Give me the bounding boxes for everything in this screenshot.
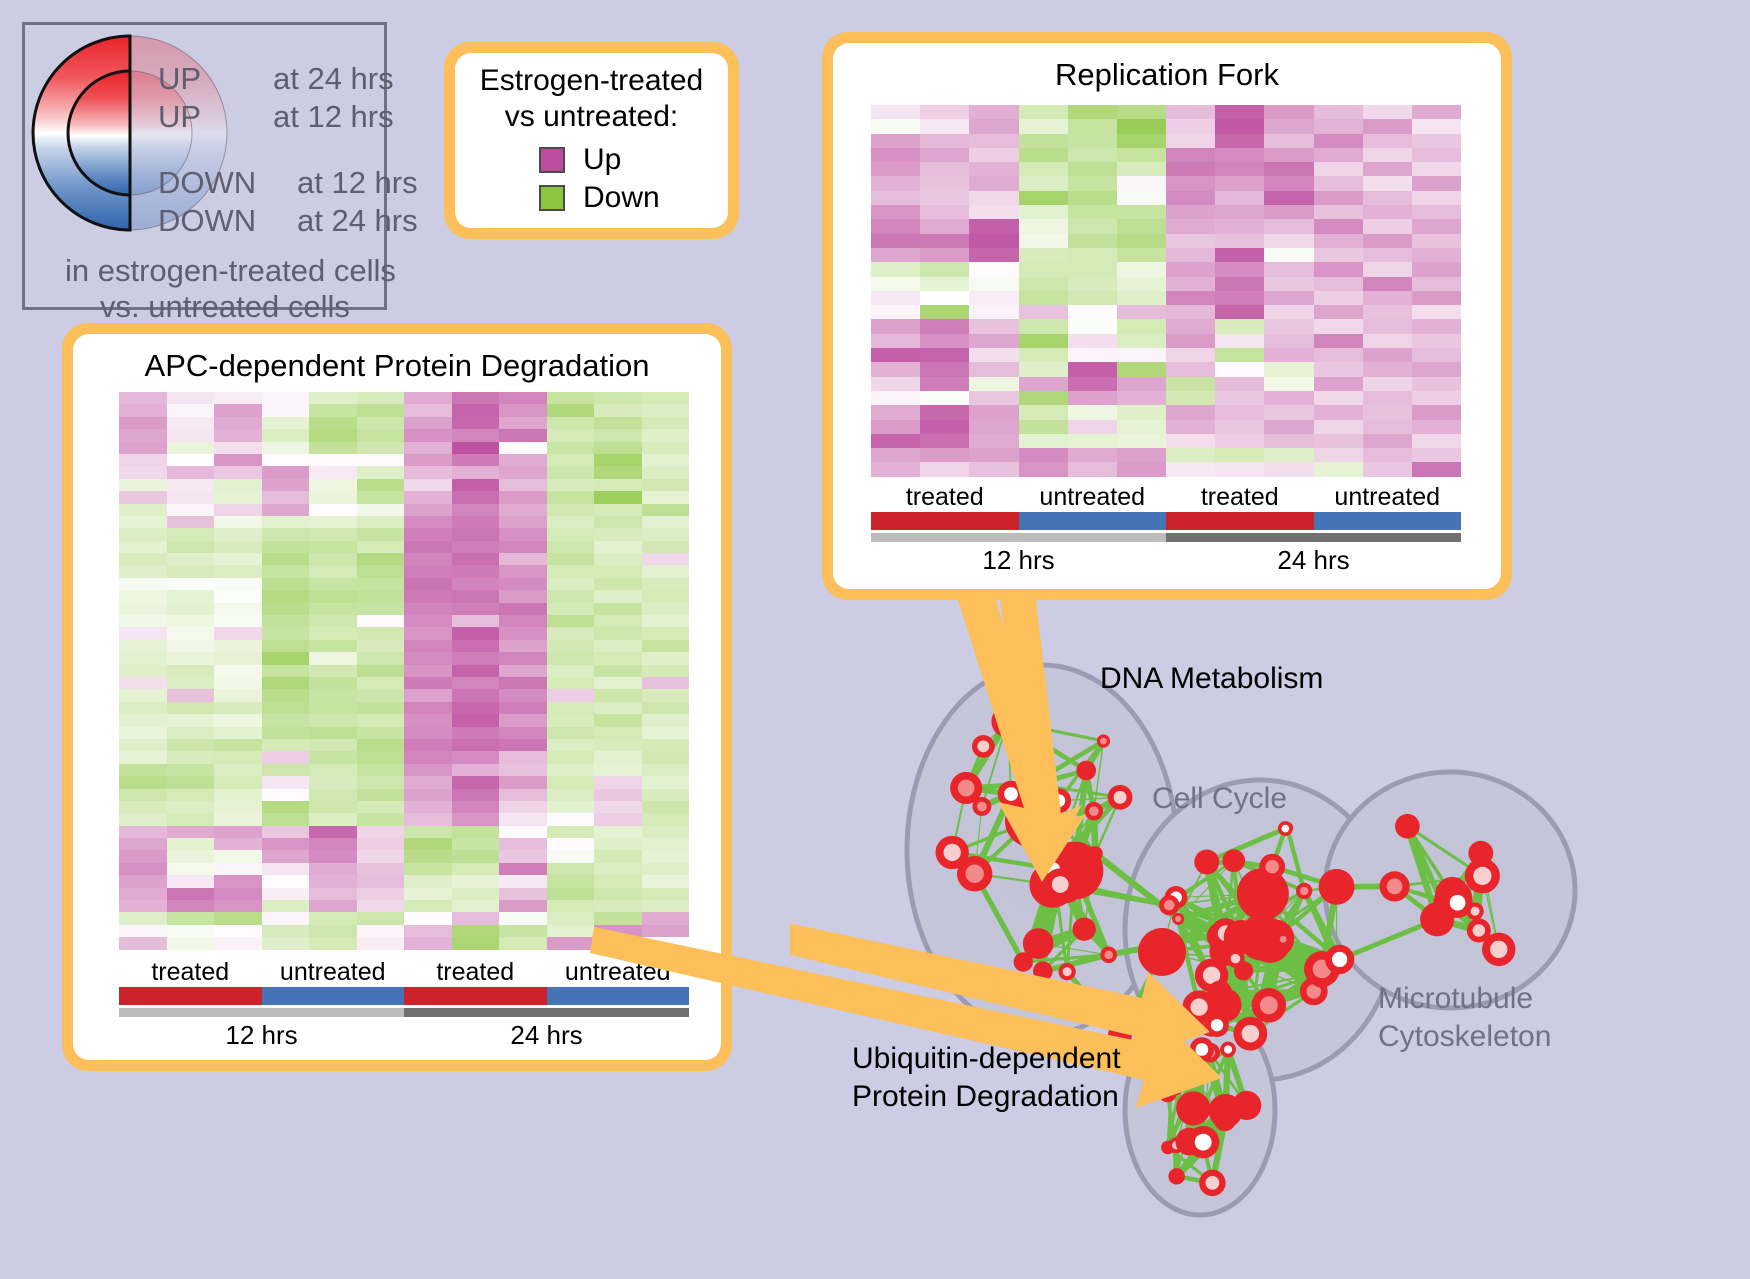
- heatmap-cell: [452, 888, 500, 900]
- heatmap-cell: [309, 900, 357, 912]
- heatmap-cell: [167, 702, 215, 714]
- heatmap-cell: [262, 553, 310, 565]
- network-node: [1097, 734, 1110, 747]
- heatmap-cell: [642, 813, 690, 825]
- heatmap-cell: [404, 727, 452, 739]
- heatmap-cell: [499, 417, 547, 429]
- heatmap-cell: [357, 603, 405, 615]
- heatmap-cell: [1166, 262, 1215, 276]
- heatmap-cell: [499, 466, 547, 478]
- heatmap-cell: [262, 900, 310, 912]
- heatmap-cell: [452, 652, 500, 664]
- heatmap-cell: [404, 491, 452, 503]
- legend-swatch-label: Down: [583, 183, 660, 213]
- heatmap-cell: [969, 291, 1018, 305]
- heatmap-cell: [920, 420, 969, 434]
- heatmap-cell: [357, 801, 405, 813]
- heatmap-cell: [309, 652, 357, 664]
- heatmap-cell: [167, 677, 215, 689]
- heatmap-cell: [167, 888, 215, 900]
- heatmap-cell: [404, 888, 452, 900]
- network-node: [1234, 961, 1253, 980]
- heatmap-cell: [214, 888, 262, 900]
- heatmap-cell: [642, 665, 690, 677]
- heatmap-cell: [547, 466, 595, 478]
- heatmap-cell: [920, 119, 969, 133]
- heatmap-cell: [309, 553, 357, 565]
- heatmap-cell: [969, 234, 1018, 248]
- heatmap-cell: [167, 813, 215, 825]
- heatmap-cell: [214, 764, 262, 776]
- heatmap-cell: [404, 714, 452, 726]
- heatmap-cell: [594, 850, 642, 862]
- heatmap-cell: [499, 850, 547, 862]
- heatmap-cell: [404, 479, 452, 491]
- heatmap-cell: [167, 727, 215, 739]
- heatmap-cell: [1264, 362, 1313, 376]
- heatmap-cell: [167, 739, 215, 751]
- heatmap-cell: [214, 491, 262, 503]
- heatmap-cell: [969, 176, 1018, 190]
- heatmap-cell: [1215, 405, 1264, 419]
- heatmap-cell: [262, 764, 310, 776]
- heatmap-cell: [404, 739, 452, 751]
- heatmap-cell: [1363, 248, 1412, 262]
- heatmap-cell: [871, 119, 920, 133]
- heatmap-cell: [642, 875, 690, 887]
- cluster-label-ubiquitin: Ubiquitin-dependent Protein Degradation: [852, 1040, 1121, 1116]
- heatmap-cell: [167, 553, 215, 565]
- treatment-bar-untreated: [547, 987, 690, 1005]
- heatmap-cell: [404, 429, 452, 441]
- heatmap-cell: [452, 454, 500, 466]
- heatmap-cell: [871, 305, 920, 319]
- heatmap-cell: [119, 429, 167, 441]
- heatmap-cell: [357, 429, 405, 441]
- heatmap-cell: [357, 789, 405, 801]
- heatmap-cell: [1412, 234, 1461, 248]
- heatmap-cell: [214, 615, 262, 627]
- heatmap-cell: [594, 392, 642, 404]
- heatmap-cell: [119, 392, 167, 404]
- heatmap-cell: [920, 319, 969, 333]
- heatmap-cell: [357, 912, 405, 924]
- heatmap-cell: [642, 888, 690, 900]
- heatmap-cell: [499, 627, 547, 639]
- network-node: [1194, 850, 1219, 875]
- heatmap-cell: [262, 442, 310, 454]
- heatmap-cell: [499, 801, 547, 813]
- heatmap-cell: [547, 789, 595, 801]
- heatmap-cell: [1068, 148, 1117, 162]
- heatmap-cell: [1117, 448, 1166, 462]
- heatmap-cell: [404, 677, 452, 689]
- heatmap-cell: [452, 900, 500, 912]
- heatmap-cell: [594, 689, 642, 701]
- heatmap-cell: [262, 727, 310, 739]
- heatmap-cell: [1412, 134, 1461, 148]
- heatmap-cell: [167, 850, 215, 862]
- heatmap-cell: [309, 689, 357, 701]
- heatmap-cell: [1019, 305, 1068, 319]
- heatmap-cell: [642, 677, 690, 689]
- heatmap-cell: [404, 442, 452, 454]
- heatmap-cell: [547, 912, 595, 924]
- heatmap-cell: [642, 751, 690, 763]
- cluster-label-dna-metabolism: DNA Metabolism: [1100, 662, 1323, 696]
- heatmap-cell: [357, 714, 405, 726]
- heatmap-cell: [1019, 334, 1068, 348]
- network-node: [1252, 988, 1287, 1023]
- heatmap-cell: [262, 404, 310, 416]
- network-node: [998, 781, 1024, 807]
- time-bar-24-hrs: [404, 1008, 689, 1017]
- heatmap-cell: [1264, 377, 1313, 391]
- heatmap-cell: [1068, 334, 1117, 348]
- heatmap-cell: [1068, 377, 1117, 391]
- heatmap-cell: [167, 751, 215, 763]
- heatmap-cell: [594, 751, 642, 763]
- heatmap-cell: [167, 528, 215, 540]
- heatmap-cell: [452, 578, 500, 590]
- heatmap-cell: [594, 937, 642, 949]
- heatmap-cell: [357, 888, 405, 900]
- heatmap-cell: [1117, 148, 1166, 162]
- heatmap-cell: [1019, 291, 1068, 305]
- heatmap-cell: [404, 689, 452, 701]
- heatmap-cell: [119, 925, 167, 937]
- heatmap-cell: [1314, 176, 1363, 190]
- heatmap-cell: [920, 205, 969, 219]
- heatmap-cell: [547, 516, 595, 528]
- heatmap-cell: [452, 677, 500, 689]
- heatmap-cell: [1412, 219, 1461, 233]
- heatmap-cell: [357, 565, 405, 577]
- heatmap-cell: [167, 516, 215, 528]
- heatmap-cell: [214, 937, 262, 949]
- heatmap-cell: [452, 603, 500, 615]
- network-node: [1224, 920, 1259, 955]
- heatmap-cell: [214, 392, 262, 404]
- heatmap-cell: [920, 277, 969, 291]
- heatmap-cell: [309, 640, 357, 652]
- heatmap-cell: [1363, 305, 1412, 319]
- heatmap-cell: [357, 727, 405, 739]
- heatmap-cell: [920, 248, 969, 262]
- heatmap-cell: [357, 677, 405, 689]
- heatmap-cell: [452, 702, 500, 714]
- heatmap-cell: [119, 776, 167, 788]
- heatmap-cell: [452, 565, 500, 577]
- heatmap-cell: [214, 727, 262, 739]
- heatmap-cell: [594, 875, 642, 887]
- network-node: [1172, 913, 1184, 925]
- heatmap-cell: [1215, 219, 1264, 233]
- heatmap-cell: [262, 429, 310, 441]
- heatmap-cell: [452, 590, 500, 602]
- heatmap-cell: [547, 665, 595, 677]
- heatmap-cell: [309, 541, 357, 553]
- heatmap-cell: [920, 176, 969, 190]
- heatmap-cell: [547, 888, 595, 900]
- heatmap-cell: [167, 590, 215, 602]
- heatmap-cell: [309, 528, 357, 540]
- heatmap-cell: [309, 627, 357, 639]
- heatmap-cell: [357, 578, 405, 590]
- heatmap-cell: [404, 615, 452, 627]
- heatmap-cell: [1215, 291, 1264, 305]
- heatmap-cell: [1019, 234, 1068, 248]
- heatmap-cell: [452, 925, 500, 937]
- heatmap-cell: [262, 751, 310, 763]
- heatmap-cell: [452, 714, 500, 726]
- heatmap-cell: [1412, 248, 1461, 262]
- heatmap-cell: [404, 504, 452, 516]
- heatmap-cell: [1166, 219, 1215, 233]
- heatmap-cell: [871, 291, 920, 305]
- heatmap-cell: [1314, 334, 1363, 348]
- heatmap-cell: [404, 912, 452, 924]
- heatmap-cell: [119, 764, 167, 776]
- heatmap-cell: [642, 640, 690, 652]
- heatmap-cell: [357, 875, 405, 887]
- network-node: [1108, 785, 1133, 810]
- heatmap-cell: [594, 516, 642, 528]
- heatmap-cell: [1412, 420, 1461, 434]
- heatmap-cell: [452, 429, 500, 441]
- heatmap-cell: [452, 627, 500, 639]
- heatmap-cell: [594, 813, 642, 825]
- heatmap-cell: [167, 689, 215, 701]
- heatmap-cell: [309, 912, 357, 924]
- heatmap-cell: [357, 751, 405, 763]
- heatmap-cell: [1117, 119, 1166, 133]
- heatmap-cell: [1314, 405, 1363, 419]
- heatmap-cell: [452, 442, 500, 454]
- heatmap-cell: [309, 875, 357, 887]
- heatmap-cell: [594, 640, 642, 652]
- heatmap-cell: [1215, 119, 1264, 133]
- heatmap-cell: [1117, 334, 1166, 348]
- heatmap-cell: [594, 801, 642, 813]
- heatmap-cell: [404, 652, 452, 664]
- legend-caption-line1: in estrogen-treated cells: [65, 253, 396, 289]
- heatmap-cell: [871, 405, 920, 419]
- heatmap-cell: [119, 665, 167, 677]
- heatmap-cell: [642, 838, 690, 850]
- heatmap-cell: [167, 640, 215, 652]
- heatmap-cell: [499, 442, 547, 454]
- pathway-network-diagram: [790, 600, 1750, 1279]
- heatmap-cell: [547, 925, 595, 937]
- heatmap-cell: [969, 105, 1018, 119]
- heatmap-cell: [1068, 134, 1117, 148]
- heatmap-cell: [920, 391, 969, 405]
- heatmap-cell: [1314, 319, 1363, 333]
- heatmap-cell: [214, 417, 262, 429]
- heatmap-cell: [1363, 348, 1412, 362]
- heatmap-cell: [119, 801, 167, 813]
- heatmap-cell: [214, 652, 262, 664]
- heatmap-cell: [404, 404, 452, 416]
- heatmap-cell: [1068, 291, 1117, 305]
- heatmap-cell: [1166, 334, 1215, 348]
- heatmap-cell: [642, 714, 690, 726]
- heatmap-cell: [357, 454, 405, 466]
- heatmap-cell: [499, 429, 547, 441]
- heatmap-cell: [547, 937, 595, 949]
- heatmap-cell: [920, 148, 969, 162]
- cluster-label-cell-cycle: Cell Cycle: [1152, 782, 1287, 816]
- heatmap-cell: [969, 334, 1018, 348]
- heatmap-cell: [969, 248, 1018, 262]
- heatmap-cell: [871, 219, 920, 233]
- heatmap-cell: [309, 491, 357, 503]
- heatmap-cell: [404, 541, 452, 553]
- heatmap-cell: [871, 262, 920, 276]
- heatmap-cell: [1215, 334, 1264, 348]
- heatmap-cell: [262, 912, 310, 924]
- network-node: [1044, 868, 1076, 900]
- heatmap-cell: [1363, 119, 1412, 133]
- network-node: [1468, 841, 1493, 866]
- heatmap-cell: [1117, 348, 1166, 362]
- heatmap-cell: [214, 863, 262, 875]
- heatmap-cell: [357, 826, 405, 838]
- heatmap-cell: [1019, 277, 1068, 291]
- heatmap-cell: [262, 491, 310, 503]
- heatmap-cell: [1314, 205, 1363, 219]
- heatmap-cell: [167, 665, 215, 677]
- heatmap-cell: [594, 776, 642, 788]
- heatmap-cell: [594, 603, 642, 615]
- heatmap-cell: [119, 504, 167, 516]
- heatmap-cell: [1314, 391, 1363, 405]
- heatmap-cell: [920, 377, 969, 391]
- heatmap-cell: [1068, 105, 1117, 119]
- heatmap-cell: [547, 541, 595, 553]
- heatmap-cell: [594, 404, 642, 416]
- heatmap-cell: [547, 863, 595, 875]
- heatmap-cell: [404, 578, 452, 590]
- heatmap-cell: [547, 776, 595, 788]
- heatmap-cell: [119, 466, 167, 478]
- heatmap-cell: [452, 764, 500, 776]
- time-bar-12-hrs: [119, 1008, 404, 1017]
- heatmap-cell: [404, 454, 452, 466]
- replication-fork-time-bars: [871, 533, 1461, 542]
- heatmap-cell: [547, 454, 595, 466]
- heatmap-cell: [594, 615, 642, 627]
- heatmap-cell: [214, 751, 262, 763]
- time-bar-24-hrs: [1166, 533, 1461, 542]
- heatmap-cell: [1264, 462, 1313, 476]
- heatmap-cell: [1215, 348, 1264, 362]
- heatmap-cell: [1166, 248, 1215, 262]
- heatmap-cell: [594, 912, 642, 924]
- heatmap-cell: [1068, 262, 1117, 276]
- heatmap-cell: [452, 689, 500, 701]
- heatmap-cell: [1314, 448, 1363, 462]
- heatmap-cell: [1166, 405, 1215, 419]
- heatmap-cell: [167, 789, 215, 801]
- heatmap-cell: [119, 541, 167, 553]
- heatmap-cell: [920, 191, 969, 205]
- heatmap-cell: [499, 541, 547, 553]
- network-node: [1277, 933, 1290, 946]
- heatmap-cell: [871, 434, 920, 448]
- heatmap-cell: [119, 912, 167, 924]
- heatmap-cell: [1019, 405, 1068, 419]
- heatmap-cell: [642, 479, 690, 491]
- heatmap-cell: [262, 578, 310, 590]
- heatmap-cell: [547, 627, 595, 639]
- heatmap-cell: [1264, 205, 1313, 219]
- heatmap-cell: [262, 392, 310, 404]
- heatmap-cell: [1068, 162, 1117, 176]
- heatmap-cell: [871, 162, 920, 176]
- heatmap-cell: [1166, 234, 1215, 248]
- heatmap-cell: [1117, 434, 1166, 448]
- group-label-treated: treated: [404, 958, 547, 987]
- heatmap-cell: [871, 134, 920, 148]
- heatmap-cell: [920, 305, 969, 319]
- heatmap-cell: [1166, 448, 1215, 462]
- network-node: [1214, 1109, 1236, 1131]
- heatmap-cell: [452, 404, 500, 416]
- heatmap-cell: [1412, 377, 1461, 391]
- heatmap-cell: [920, 405, 969, 419]
- legend-swatch-down: [539, 185, 565, 211]
- heatmap-cell: [214, 739, 262, 751]
- heatmap-cell: [499, 727, 547, 739]
- heatmap-cell: [499, 553, 547, 565]
- heatmap-cell: [404, 603, 452, 615]
- heatmap-cell: [1412, 434, 1461, 448]
- heatmap-cell: [594, 888, 642, 900]
- heatmap-cell: [1264, 434, 1313, 448]
- network-node: [1296, 883, 1312, 899]
- heatmap-cell: [1363, 391, 1412, 405]
- heatmap-cell: [404, 751, 452, 763]
- heatmap-cell: [1314, 434, 1363, 448]
- heatmap-cell: [214, 528, 262, 540]
- heatmap-cell: [214, 466, 262, 478]
- heatmap-cell: [547, 392, 595, 404]
- heatmap-cell: [119, 789, 167, 801]
- heatmap-cell: [642, 863, 690, 875]
- treatment-bar-treated: [1166, 512, 1314, 530]
- legend-up-12-label: UP: [158, 99, 201, 135]
- heatmap-cell: [119, 417, 167, 429]
- heatmap-cell: [871, 377, 920, 391]
- heatmap-cell: [309, 801, 357, 813]
- heatmap-cell: [594, 652, 642, 664]
- heatmap-cell: [167, 875, 215, 887]
- heatmap-cell: [871, 348, 920, 362]
- heatmap-cell: [357, 553, 405, 565]
- heatmap-cell: [499, 764, 547, 776]
- heatmap-cell: [119, 627, 167, 639]
- heatmap-cell: [871, 420, 920, 434]
- heatmap-cell: [167, 863, 215, 875]
- heatmap-cell: [642, 727, 690, 739]
- heatmap-cell: [119, 900, 167, 912]
- heatmap-cell: [1019, 434, 1068, 448]
- heatmap-cell: [547, 813, 595, 825]
- heatmap-cell: [1363, 362, 1412, 376]
- heatmap-cell: [594, 466, 642, 478]
